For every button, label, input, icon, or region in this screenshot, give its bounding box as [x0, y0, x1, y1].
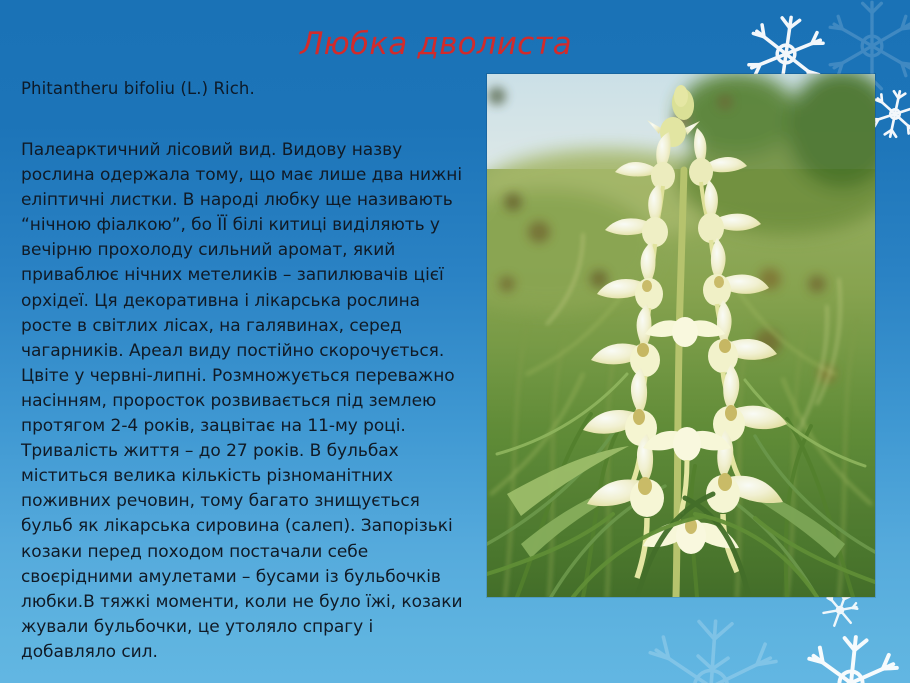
snowflake-bottom-right-large: [791, 623, 910, 683]
description-paragraph: Палеарктичний лісовий вид. Видову назву …: [21, 138, 473, 665]
snowflake-bottom-center-ghost: [631, 607, 791, 683]
presentation-slide: Любка дволиста Phitantheru bifoliu (L.) …: [0, 0, 910, 683]
scientific-name: Phitantheru bifoliu (L.) Rich.: [21, 79, 255, 98]
plant-photo: [487, 74, 875, 597]
page-title: Любка дволиста: [0, 26, 872, 62]
